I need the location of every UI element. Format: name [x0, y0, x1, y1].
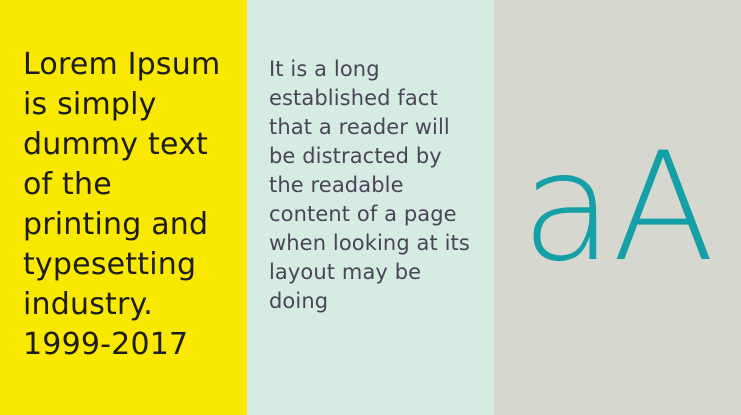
specimen-panel: aA — [494, 0, 741, 415]
headline-text: Lorem Ipsum is simply dummy text of the … — [23, 45, 238, 365]
headline-panel: Lorem Ipsum is simply dummy text of the … — [0, 0, 247, 415]
font-specimen-poster: Lorem Ipsum is simply dummy text of the … — [0, 0, 741, 415]
specimen-glyphs: aA — [494, 0, 741, 415]
body-copy-panel: It is a long established fact that a rea… — [247, 0, 494, 415]
body-copy-text: It is a long established fact that a rea… — [269, 55, 481, 316]
